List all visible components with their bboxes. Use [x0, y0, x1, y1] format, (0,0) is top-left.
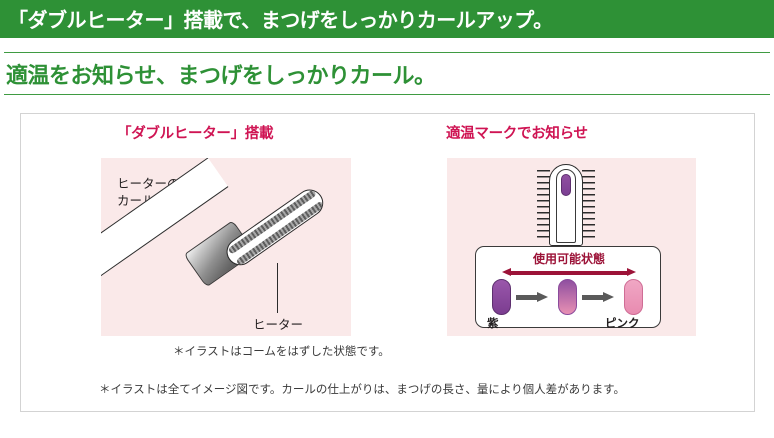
panel-right-title: 適温マークでお知らせ	[446, 122, 588, 143]
bottom-footnote: ＊イラストは全てイメージ図です。カールの仕上がりは、まつげの長さ、量により個人差…	[99, 382, 625, 398]
temperature-mark-indicator	[561, 174, 571, 196]
promo-banner: 「ダブルヒーター」搭載で、まつげをしっかりカールアップ。	[0, 0, 774, 38]
transition-arrow-1-head	[537, 292, 548, 302]
usable-state-title: 使用可能状態	[476, 250, 662, 267]
comb-teeth-right	[582, 170, 595, 242]
content-frame: 「ダブルヒーター」搭載 ヒーターの熱で カールします ヒーター ＊イラストはコー…	[20, 113, 755, 412]
state-capsule-mid	[558, 279, 577, 315]
state-capsule-purple	[492, 279, 511, 315]
state-caption-purple: 紫	[487, 315, 499, 331]
usable-range-arrow	[502, 268, 636, 277]
arrow-line	[510, 271, 628, 276]
transition-arrow-1-icon	[516, 292, 548, 303]
state-caption-pink: ピンク	[605, 315, 640, 331]
temperature-state-row: 紫 ピンク	[488, 279, 650, 327]
heater-illustration: ヒーターの熱で カールします ヒーター	[101, 158, 351, 336]
heading-rule-bottom	[4, 94, 770, 95]
transition-arrow-2-line	[582, 295, 603, 300]
transition-arrow-2-icon	[582, 292, 614, 303]
state-capsule-pink	[624, 279, 643, 315]
heater-leader-line	[277, 263, 278, 313]
panel-left-footnote: ＊イラストはコームをはずした状態です。	[173, 344, 390, 360]
heater-hatch-band-upper	[228, 189, 317, 254]
heading-rule-top	[4, 52, 770, 53]
transition-arrow-2-head	[603, 292, 614, 302]
transition-arrow-1-line	[516, 295, 537, 300]
arrow-head-right-icon	[627, 268, 636, 276]
panel-left-title: 「ダブルヒーター」搭載	[117, 122, 273, 143]
usable-state-card: 使用可能状態	[475, 246, 661, 328]
page-title: 適温をお知らせ、まつげをしっかりカール。	[6, 58, 436, 90]
promo-banner-text: 「ダブルヒーター」搭載で、まつげをしっかりカールアップ。	[8, 4, 553, 33]
heater-part-label: ヒーター	[253, 314, 303, 333]
comb-head-illustration	[549, 164, 583, 246]
temperature-illustration: 使用可能状態	[447, 158, 696, 336]
